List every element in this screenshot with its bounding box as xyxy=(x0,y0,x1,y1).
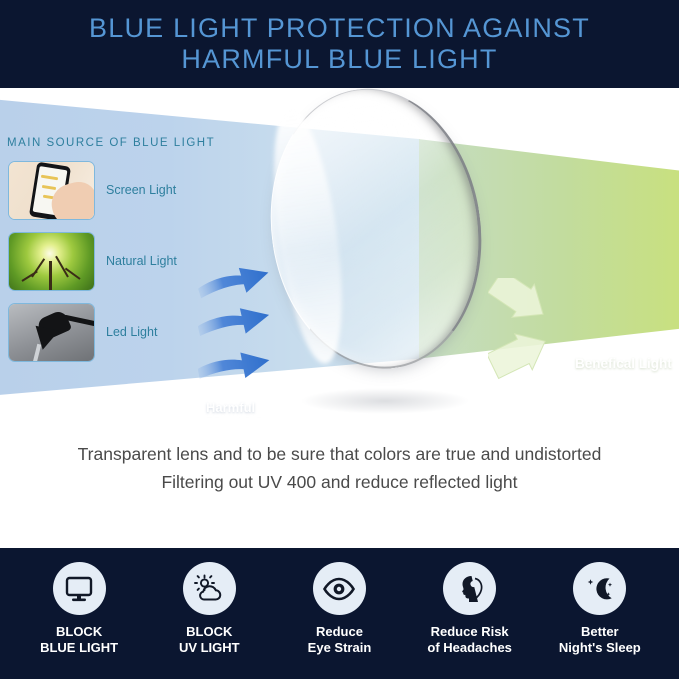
green-arrow-down xyxy=(488,278,554,331)
benefit-label: BLOCK UV LIGHT xyxy=(179,624,240,656)
header-title-line-2: HARMFUL BLUE LIGHT xyxy=(181,44,497,75)
benefit-line-1: Reduce Risk xyxy=(427,624,512,640)
monitor-icon xyxy=(53,562,106,615)
blue-arrow-3 xyxy=(198,347,272,386)
sunlight-through-trees-photo-icon xyxy=(8,232,95,291)
benefit-block-eye-strain: Reduce Eye Strain xyxy=(277,548,402,656)
benefit-line-1: BLOCK xyxy=(40,624,118,640)
description-line-2: Filtering out UV 400 and reduce reflecte… xyxy=(161,468,517,496)
beneficial-light-arrows xyxy=(488,278,628,393)
eye-icon xyxy=(313,562,366,615)
benefit-label: Better Night's Sleep xyxy=(559,624,641,656)
benefit-block-uv-light: BLOCK UV LIGHT xyxy=(147,548,272,656)
benefit-line-2: UV LIGHT xyxy=(179,640,240,656)
benefit-line-1: Better xyxy=(559,624,641,640)
benefit-line-2: Night's Sleep xyxy=(559,640,641,656)
harmful-line-2: Blue Light xyxy=(206,416,270,418)
benefit-label: Reduce Risk of Headaches xyxy=(427,624,512,656)
sun-cloud-icon xyxy=(183,562,236,615)
benefit-line-2: BLUE LIGHT xyxy=(40,640,118,656)
blue-arrow-2 xyxy=(198,302,272,344)
led-desk-lamp-photo-icon xyxy=(8,303,95,362)
benefit-line-1: BLOCK xyxy=(179,624,240,640)
moon-stars-icon xyxy=(573,562,626,615)
source-label-natural: Natural Light xyxy=(106,254,177,268)
sources-title: MAIN SOURCE OF BLUE LIGHT xyxy=(7,137,215,149)
benefit-label: BLOCK BLUE LIGHT xyxy=(40,624,118,656)
source-label-screen: Screen Light xyxy=(106,183,176,197)
list-item: Screen Light xyxy=(8,161,198,218)
green-arrow-up xyxy=(488,323,554,384)
blue-arrow-1 xyxy=(198,260,272,306)
beneficial-light-label: Benefical Light xyxy=(575,356,672,371)
list-item: Led Light xyxy=(8,303,198,360)
description-line-1: Transparent lens and to be sure that col… xyxy=(78,440,602,468)
benefit-block-headaches: Reduce Risk of Headaches xyxy=(407,548,532,656)
description-block: Transparent lens and to be sure that col… xyxy=(0,420,679,548)
benefits-bar: BLOCK BLUE LIGHT BLOCK UV LIGHT xyxy=(0,548,679,679)
benefit-block-sleep: Better Night's Sleep xyxy=(537,548,662,656)
smartphone-in-hand-photo-icon xyxy=(8,161,95,220)
header-banner: BLUE LIGHT PROTECTION AGAINST HARMFUL BL… xyxy=(0,0,679,88)
header-title-line-1: BLUE LIGHT PROTECTION AGAINST xyxy=(89,13,590,44)
benefit-line-2: Eye Strain xyxy=(308,640,372,656)
head-headache-icon xyxy=(443,562,496,615)
benefit-line-2: of Headaches xyxy=(427,640,512,656)
product-infographic: BLUE LIGHT PROTECTION AGAINST HARMFUL BL… xyxy=(0,0,679,679)
benefit-label: Reduce Eye Strain xyxy=(308,624,372,656)
benefit-line-1: Reduce xyxy=(308,624,372,640)
source-list: Screen Light Natural Light xyxy=(8,161,198,374)
harmful-line-1: Harmful xyxy=(206,400,270,416)
harmful-light-label: Harmful Blue Light xyxy=(206,400,270,418)
lens-diagram: MAIN SOURCE OF BLUE LIGHT Screen Light xyxy=(0,88,679,418)
list-item: Natural Light xyxy=(8,232,198,289)
source-label-led: Led Light xyxy=(106,325,157,339)
blue-light-arrows xyxy=(198,256,348,406)
benefit-block-blue-light: BLOCK BLUE LIGHT xyxy=(17,548,142,656)
